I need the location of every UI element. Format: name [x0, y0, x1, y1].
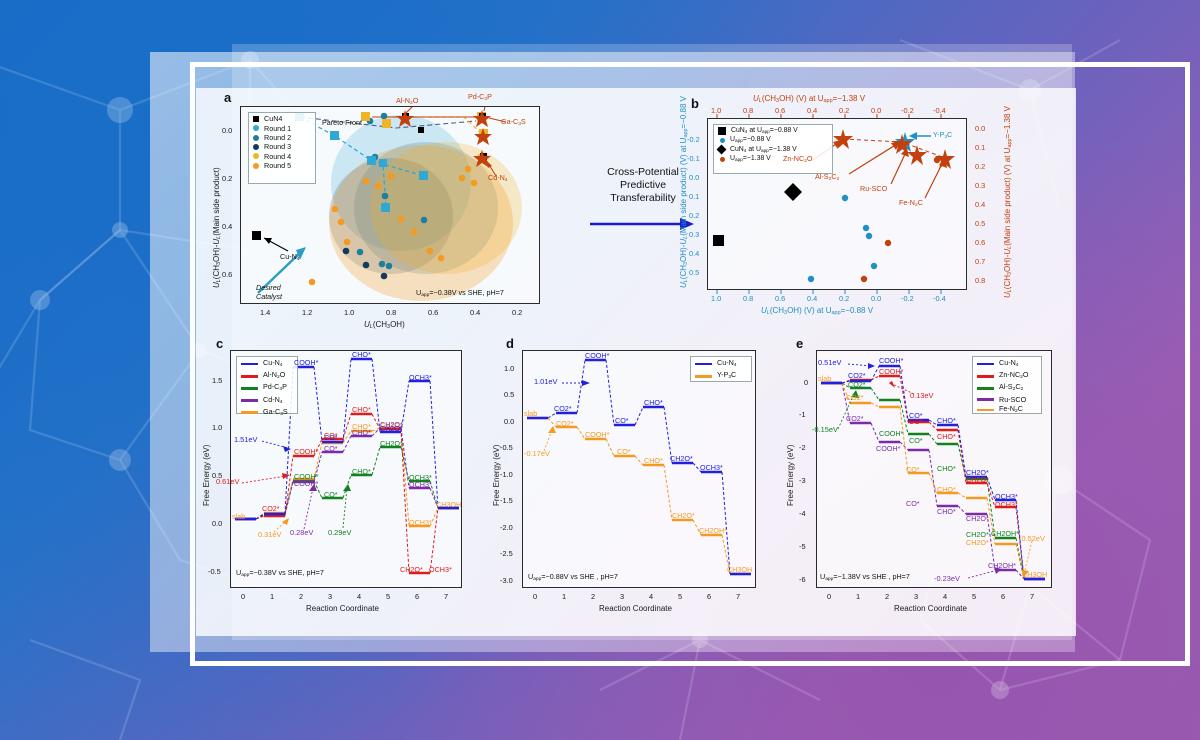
- legend-line-icon: [241, 363, 258, 366]
- panel-d-state-label: CO2*: [554, 404, 572, 413]
- panel-e-annotation-013: 0.13eV: [910, 391, 933, 400]
- panel-e-state-label: CHO*: [937, 507, 956, 516]
- marker-square-icon: [253, 116, 259, 122]
- legend-label: Ga-C3S: [263, 408, 288, 418]
- legend-item: CuN4: [253, 115, 311, 122]
- panel-c-state-label: CO*: [324, 490, 338, 499]
- marker-circle-icon: [720, 138, 725, 143]
- panel-e-state-label: CH2O*: [966, 514, 989, 523]
- panel-e-state-label: CHO*: [937, 485, 956, 494]
- legend-label: Round 1: [264, 125, 291, 132]
- panel-d-annotation-101: 1.01eV: [534, 377, 557, 386]
- panel-b-callout-ru: Ru-SCO: [860, 184, 887, 193]
- panel-e-state-label: CH2O*: [966, 475, 989, 484]
- panel-c-annotation-031: 0.31eV: [258, 530, 281, 539]
- panel-e-state-label: COOH*: [879, 356, 903, 365]
- panel-e-state-label: CO2*: [848, 380, 866, 389]
- panel-a-legend: CuN4 Round 1 Round 2 Round 3 Round 4 Rou…: [248, 112, 316, 184]
- legend-label: CuN4 at Uapp=−1.38 V: [730, 147, 797, 154]
- panel-d-legend: Cu-N4 Y-P3C: [690, 356, 752, 382]
- marker-circle-icon: [253, 125, 259, 131]
- panel-a-condition: Uapp=−0.38V vs SHE, pH=7: [416, 288, 504, 298]
- panel-d-state-label: CO*: [615, 416, 629, 425]
- panel-c-state-label: CH2O*: [380, 420, 403, 429]
- panel-c-state-label: slab: [232, 512, 245, 521]
- legend-line-icon: [977, 375, 994, 378]
- panel-b-callout-zn: Zn-NC2O: [783, 154, 812, 164]
- panel-c-state-label: COOH*: [294, 447, 318, 456]
- legend-item: Cu-N4: [241, 359, 293, 369]
- panel-c-state-label: CH3OH: [436, 500, 461, 509]
- panel-e-state-label: COOH*: [879, 367, 903, 376]
- legend-item: Round 2: [253, 134, 311, 141]
- panel-e-state-label: CH2O*: [966, 538, 989, 547]
- panel-d-state-label: COOH*: [585, 430, 609, 439]
- legend-label: Uapp=−1.38 V: [730, 156, 771, 163]
- legend-label: CuN4: [264, 115, 282, 122]
- panel-c-state-label: OCH3*: [409, 373, 432, 382]
- legend-label: Cd-N4: [263, 396, 283, 406]
- panel-e-annotation-051: 0.51eV: [818, 358, 841, 367]
- panel-d-condition: Uapp=−0.88V vs SHE , pH=7: [528, 572, 618, 582]
- legend-item: Cd-N4: [241, 396, 293, 406]
- legend-item: Cu-N4: [695, 359, 747, 369]
- panel-a-pareto-label: Pareto Front: [322, 118, 362, 127]
- panel-a-desired-2: Catalyst: [256, 292, 282, 301]
- panel-e-state-label: CH3OH: [1022, 570, 1047, 579]
- panel-a-callout-cd: Cd-N4: [488, 173, 508, 183]
- panel-e-state-label: CHO*: [937, 416, 956, 425]
- panel-c-state-label: OCH3*: [409, 518, 432, 527]
- panel-a-callout-pd: Pd-C3P: [468, 92, 492, 102]
- legend-item: Round 1: [253, 125, 311, 132]
- panel-c-condition: Uapp=−0.38V vs SHE, pH=7: [236, 568, 324, 578]
- legend-item: Cu-N4: [977, 359, 1037, 369]
- legend-item: CuN4 at Uapp=−1.38 V: [718, 146, 828, 153]
- legend-label: CuN4 at Uapp=−0.88 V: [731, 128, 798, 135]
- legend-label: Pd-C3P: [263, 383, 287, 393]
- panel-b-legend: CuN4 at Uapp=−0.88 V Uapp=−0.88 V CuN4 a…: [713, 124, 833, 174]
- panel-d-state-label: CO2*: [556, 419, 574, 428]
- legend-line-icon: [977, 409, 994, 412]
- panel-c-state-label: CHO*: [352, 428, 371, 437]
- panel-c-annotation-028: 0.28eV: [290, 528, 313, 537]
- panel-c-state-label: CO2*: [262, 504, 280, 513]
- panel-e-state-label: slab: [818, 374, 831, 383]
- panel-c-state-label: CH2O*: [400, 565, 423, 574]
- panel-d-state-label: OCH3*: [700, 463, 723, 472]
- panel-c-state-label: OCH3*: [409, 480, 432, 489]
- panel-c-legend: Cu-N4 Al-N2O Pd-C3P Cd-N4 Ga-C3S: [236, 356, 298, 414]
- panel-e-state-label: CHO*: [937, 464, 956, 473]
- panel-e-state-label: COOH*: [879, 429, 903, 438]
- panel-d-state-label: CO*: [617, 447, 631, 456]
- panel-d-annotation-017: -0.17eV: [524, 449, 550, 458]
- marker-square-icon: [718, 127, 726, 135]
- panel-c-state-label: CHO*: [352, 405, 371, 414]
- panel-e-legend: Cu-N4 Zn-NC2O Al-S2C2 Ru-SCO Fe-N2C: [972, 356, 1042, 414]
- legend-label: Cu-N4: [717, 359, 737, 369]
- marker-circle-icon: [253, 144, 259, 150]
- marker-circle-icon: [253, 153, 259, 159]
- panel-e-state-label: CO*: [906, 499, 920, 508]
- legend-item: Ga-C3S: [241, 408, 293, 418]
- legend-label: Cu-N4: [999, 359, 1019, 369]
- panel-a-callout-al: Al-N2O: [396, 96, 418, 106]
- panel-e-state-label: CO2*: [846, 414, 864, 423]
- legend-line-icon: [977, 387, 994, 390]
- legend-label: Y-P3C: [717, 371, 736, 381]
- panel-c-state-label: CHO*: [352, 467, 371, 476]
- legend-item: Fe-N2C: [977, 405, 1037, 415]
- legend-label: Round 5: [264, 162, 291, 169]
- legend-line-icon: [695, 375, 712, 378]
- legend-label: Round 3: [264, 143, 291, 150]
- legend-item: Round 5: [253, 162, 311, 169]
- panel-b: b UL(CH3OH) (V) at Uapp=−1.38 V 1.0 0.8 …: [651, 88, 1076, 333]
- panel-d-state-label: CH2OH*: [699, 526, 727, 535]
- legend-item: Uapp=−0.88 V: [718, 137, 828, 144]
- panel-e-state-label: CO2*: [848, 371, 866, 380]
- panel-d: d 1.0 0.5 0.0 -0.5 -1.0 -1.5 -2.0 -2.5 -…: [484, 336, 774, 636]
- panel-c-annotation-151: 1.51eV: [234, 435, 257, 444]
- panel-e-condition: Uapp=−1.38V vs SHE , pH=7: [820, 572, 910, 582]
- panel-e-state-label: CO*: [909, 436, 923, 445]
- panel-d-state-label: COOH*: [585, 351, 609, 360]
- legend-label: Uapp=−0.88 V: [730, 137, 771, 144]
- panel-a: a 0.0 0.2 0.4 0.6 1.4 1.2 1.0 0.8 0.6 0.…: [196, 88, 596, 333]
- panel-c-state-label: CO*: [324, 444, 338, 453]
- panel-e-state-label: COOH*: [876, 444, 900, 453]
- panel-d-state-label: CHO*: [644, 398, 663, 407]
- legend-line-icon: [977, 363, 994, 366]
- panel-e-state-label: CHO*: [937, 432, 956, 441]
- panel-c-state-label: OCH3*: [429, 565, 452, 574]
- panel-e-state-label: CO*: [906, 465, 920, 474]
- legend-item: Y-P3C: [695, 371, 747, 381]
- marker-circle-icon: [720, 157, 725, 162]
- legend-line-icon: [695, 363, 712, 366]
- panel-d-state-label: CH2O*: [672, 511, 695, 520]
- legend-label: Cu-N4: [263, 359, 283, 369]
- panel-e-annotation-023: -0.23eV: [934, 574, 960, 583]
- legend-item: Round 3: [253, 143, 311, 150]
- panel-c-state-label: COOH*: [294, 479, 318, 488]
- panel-b-callout-fe: Fe-N2C: [899, 198, 923, 208]
- legend-line-icon: [977, 398, 994, 401]
- panel-a-cu-label: Cu-N4: [280, 252, 300, 262]
- legend-item: Pd-C3P: [241, 383, 293, 393]
- legend-item: Ru-SCO: [977, 396, 1037, 403]
- legend-label: Al-S2C2: [999, 383, 1023, 393]
- legend-label: Round 4: [264, 153, 291, 160]
- legend-line-icon: [241, 411, 258, 414]
- legend-item: Al-N2O: [241, 371, 293, 381]
- panel-c-annotation-061: 0.61eV: [216, 477, 239, 486]
- panel-d-state-label: CH2O*: [670, 454, 693, 463]
- marker-diamond-icon: [717, 145, 727, 155]
- legend-label: Zn-NC2O: [999, 371, 1028, 381]
- legend-item: CuN4 at Uapp=−0.88 V: [718, 127, 828, 135]
- panel-c-state-label: CHO*: [352, 350, 371, 359]
- panel-e-annotation-015: -0.15eV: [812, 425, 838, 434]
- panel-e-state-label: CH2OH*: [991, 529, 1019, 538]
- panel-c: c 1.5 1.0 0.5 0.0 -0.5 0 1 2 3 4 5 6 7 R…: [196, 336, 476, 636]
- panel-c-state-label: CO*: [324, 431, 338, 440]
- legend-label: Ru-SCO: [999, 396, 1026, 403]
- legend-item: Round 4: [253, 153, 311, 160]
- panel-c-state-label: COOH*: [294, 358, 318, 367]
- panel-e-state-label: CO*: [909, 417, 923, 426]
- panel-e: e 0 -1 -2 -3 -4 -5 -6 0 1 2 3 4 5 6 7 Re…: [776, 336, 1076, 636]
- legend-line-icon: [241, 399, 258, 402]
- panel-d-state-label: slab: [524, 409, 537, 418]
- panel-c-state-label: CH2O*: [380, 439, 403, 448]
- panel-a-callout-ga: Ga-C3S: [501, 117, 526, 127]
- panel-c-annotation-029: 0.29eV: [328, 528, 351, 537]
- legend-line-icon: [241, 387, 258, 390]
- panel-d-state-label: CH3OH: [727, 565, 752, 574]
- legend-line-icon: [241, 375, 258, 378]
- legend-label: Round 2: [264, 134, 291, 141]
- legend-item: Zn-NC2O: [977, 371, 1037, 381]
- legend-item: Al-S2C2: [977, 383, 1037, 393]
- panel-e-state-label: CH2OH*: [988, 561, 1016, 570]
- legend-label: Al-N2O: [263, 371, 285, 381]
- panel-a-desired-1: Desired: [256, 283, 281, 292]
- marker-circle-icon: [253, 135, 259, 141]
- marker-circle-icon: [253, 163, 259, 169]
- legend-label: Fe-N2C: [999, 405, 1023, 415]
- panel-b-callout-al: Al-S2C2: [815, 172, 839, 182]
- panel-b-callout-y: Y-P3C: [933, 130, 952, 140]
- panel-d-state-label: CHO*: [644, 456, 663, 465]
- panel-e-annotation-052: -0.52eV: [1019, 534, 1045, 543]
- panel-e-state-label: OCH3*: [995, 500, 1018, 509]
- panel-e-state-label: CO2*: [846, 393, 864, 402]
- scientific-figure: a 0.0 0.2 0.4 0.6 1.4 1.2 1.0 0.8 0.6 0.…: [196, 88, 1076, 636]
